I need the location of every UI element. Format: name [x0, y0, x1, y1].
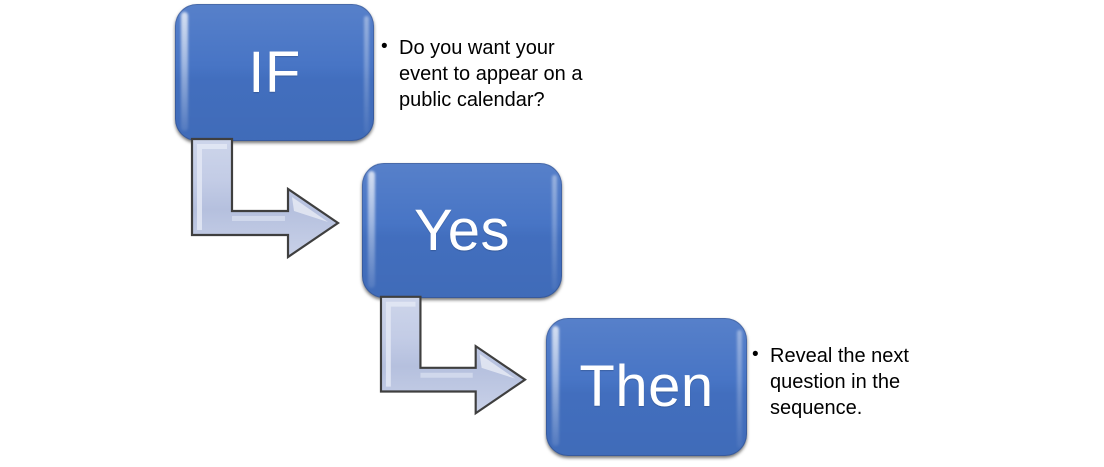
- connector-if-to-yes: [190, 137, 340, 259]
- bent-arrow-down-right-icon: [190, 137, 340, 259]
- callout-then-list: Reveal the next question in the sequence…: [752, 343, 962, 421]
- callout-then-bullet: Reveal the next question in the sequence…: [752, 343, 962, 421]
- node-yes[interactable]: Yes: [362, 163, 562, 298]
- node-if[interactable]: IF: [175, 4, 374, 141]
- callout-if-list: Do you want your event to appear on a pu…: [381, 35, 596, 113]
- callout-if-bullet: Do you want your event to appear on a pu…: [381, 35, 596, 113]
- connector-yes-to-then: [379, 294, 527, 416]
- callout-then: Reveal the next question in the sequence…: [752, 343, 962, 421]
- node-then-label: Then: [579, 358, 713, 416]
- diagram-canvas: IF Do you want your event to appear on a…: [0, 0, 1104, 467]
- node-yes-label: Yes: [414, 202, 510, 260]
- bent-arrow-down-right-icon: [379, 294, 527, 416]
- callout-if: Do you want your event to appear on a pu…: [381, 35, 596, 113]
- node-if-label: IF: [248, 44, 301, 102]
- node-then[interactable]: Then: [546, 318, 747, 456]
